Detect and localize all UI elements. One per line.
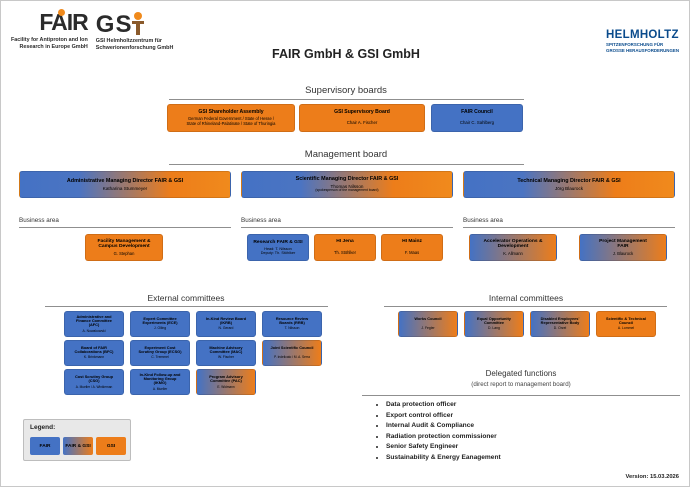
external-box-rrb[interactable]: Resource Review Boards (RRB) T. Nilsson [262, 311, 322, 337]
internal-box-scientific-technical-council[interactable]: Scientific & Technical Council A. Lommel [596, 311, 656, 337]
supervisory-box-gsi-shareholder-assembly[interactable]: GSI Shareholder Assembly German Federal … [167, 104, 295, 132]
external-committees-heading: External committees [41, 293, 331, 303]
delegated-functions-list: Data protection officer Export control o… [374, 400, 690, 463]
box-title: Expert Committee Experiments (ECE) [142, 317, 177, 326]
external-box-joint-scientific-council[interactable]: Joint Scientific Council P. Indelicato /… [262, 340, 322, 366]
business-area-label-3: Business area [463, 217, 503, 224]
box-note: (spokesperson of the management board) [315, 189, 378, 193]
box-subtitle: A. Mueller [153, 388, 167, 392]
box-title: Experiment Cost Scrutiny Group (ECSG) [138, 346, 181, 355]
external-box-ece[interactable]: Expert Committee Experiments (ECE) J. Ol… [130, 311, 190, 337]
external-committees-divider [45, 306, 328, 307]
box-subtitle: J. Olling [154, 327, 166, 331]
helmholtz-subtitle: SPITZENFORSCHUNG FÜR GROSSE HERAUSFORDER… [606, 42, 679, 54]
internal-committees-heading: Internal committees [381, 293, 671, 303]
logo-group: FAIR Facility for Antiproton and Ion Res… [11, 11, 173, 52]
box-title: In-Kind Follow-up and Monitoring Group (… [140, 373, 181, 386]
legend: Legend: FAIR FAIR & GSI GSI [23, 419, 131, 461]
page-title: FAIR GmbH & GSI GmbH [1, 47, 690, 61]
legend-swatch-gsi: GSI [96, 437, 126, 455]
list-item: Sustainability & Energy Eanagement [386, 453, 690, 464]
list-item: Radiation protection commissioner [386, 432, 690, 443]
management-board-heading: Management board [161, 149, 531, 160]
box-subtitle: D. Lang [488, 327, 500, 331]
box-subtitle: Katharina Stummeyer [103, 186, 147, 191]
external-box-pac[interactable]: Program Advisory Committee (PAC) E. Widm… [196, 369, 256, 395]
box-title: Board of FAIR Collaborations (BFC) [75, 346, 114, 355]
internal-box-disabled-employees-representative-body[interactable]: Disabled Employees' Representative Body … [530, 311, 590, 337]
business-box-accelerator-operations[interactable]: Accelerator Operations & Development K. … [469, 234, 557, 261]
business-box-facility-management[interactable]: Facility Management & Campus Development… [85, 234, 163, 261]
business-area-divider-1 [19, 227, 231, 228]
box-subtitle: A. Nowakowski [83, 330, 106, 334]
box-title: Accelerator Operations & Development [484, 239, 543, 250]
delegated-functions-title: Delegated functions [356, 369, 686, 378]
legend-label: GSI [107, 444, 115, 449]
business-box-hi-jena[interactable]: HI Jena Th. Stöhlker [314, 234, 376, 261]
box-subtitle: Jörg Blaurock [555, 186, 583, 191]
box-subtitle: A. Lommel [618, 327, 634, 331]
external-box-csg[interactable]: Cost Scrutiny Group (CSG) A. Mueller / A… [64, 369, 124, 395]
box-title: GSI Supervisory Board [334, 110, 390, 116]
legend-label: FAIR [40, 444, 51, 449]
supervisory-divider [169, 99, 524, 100]
box-title: Scientific & Technical Council [606, 317, 646, 326]
gsi-logo-letter-s: S [115, 15, 130, 35]
box-title: Joint Scientific Council [270, 346, 313, 350]
box-subtitle: Head: T. Nilsson Deputy: Th. Stöhlker [261, 247, 296, 256]
box-subtitle: Chair C. Sahlberg [460, 121, 494, 126]
box-subtitle: P. Indelicato / M. A. Serra [274, 356, 310, 360]
delegated-functions-divider [362, 395, 680, 396]
box-subtitle: W. Fischer [218, 356, 234, 360]
delegated-functions-subtitle: (direct report to management board) [356, 381, 686, 388]
business-box-hi-mainz[interactable]: HI Mainz F. Maas [381, 234, 443, 261]
list-item: Export control officer [386, 411, 690, 422]
internal-committees-divider [384, 306, 667, 307]
box-subtitle: A. Mueller / A. Winkleman [76, 386, 113, 390]
external-box-ikmg[interactable]: In-Kind Follow-up and Monitoring Group (… [130, 369, 190, 395]
box-subtitle: German Federal Government / State of Hes… [187, 117, 276, 126]
business-area-divider-2 [241, 227, 453, 228]
legend-swatch-fair: FAIR [30, 437, 60, 455]
box-title: Administrative and Finance Committee (AF… [76, 315, 112, 328]
box-title: Disabled Employees' Representative Body [541, 317, 580, 326]
delegated-functions-section: Delegated functions (direct report to ma… [356, 369, 686, 457]
fair-logo-wordmark: FAIR [39, 11, 87, 33]
box-title: Research FAIR & GSI [253, 240, 302, 245]
legend-title: Legend: [30, 424, 55, 431]
external-box-ecsg[interactable]: Experiment Cost Scrutiny Group (ECSG) C.… [130, 340, 190, 366]
gsi-logo-letter-g: G [96, 15, 114, 35]
box-subtitle: K. Allmann [503, 252, 523, 257]
box-subtitle: K. Brinkmann [84, 356, 104, 360]
box-title: Resource Review Boards (RRB) [276, 317, 308, 326]
legend-swatch-fair-gsi: FAIR & GSI [63, 437, 93, 455]
box-subtitle: J. Fegler [421, 327, 434, 331]
external-box-bfc[interactable]: Board of FAIR Collaborations (BFC) K. Br… [64, 340, 124, 366]
version-label: Version: 15.03.2026 [626, 474, 680, 480]
business-area-divider-3 [463, 227, 675, 228]
box-title: HI Mainz [402, 239, 422, 244]
helmholtz-wordmark: HELMHOLTZ [606, 29, 679, 41]
external-box-mac[interactable]: Machine Advisory Committee (MAC) W. Fisc… [196, 340, 256, 366]
management-divider [169, 164, 524, 165]
box-title: Facility Management & Campus Development [98, 239, 151, 250]
management-box-scientific-managing-director[interactable]: Scientific Managing Director FAIR & GSI … [241, 171, 453, 198]
legend-label: FAIR & GSI [65, 444, 90, 449]
box-title: FAIR Council [461, 110, 493, 116]
box-title: Project Management FAIR [599, 239, 647, 250]
box-title: Works Council [414, 317, 441, 321]
list-item: Data protection officer [386, 400, 690, 411]
box-title: In-Kind Review Board (IKRB) [206, 317, 246, 326]
box-title: Scientific Managing Director FAIR & GSI [296, 176, 399, 182]
box-subtitle: N. Gerard [219, 327, 234, 331]
list-item: Internal Audit & Compliance [386, 421, 690, 432]
supervisory-box-gsi-supervisory-board[interactable]: GSI Supervisory Board Chair A. Fischer [299, 104, 425, 132]
business-area-label-2: Business area [241, 217, 281, 224]
internal-box-equal-opportunity-committee[interactable]: Equal Opportunity Committee D. Lang [464, 311, 524, 337]
org-chart-page: FAIR Facility for Antiproton and Ion Res… [0, 0, 690, 487]
supervisory-boards-heading: Supervisory boards [161, 85, 531, 96]
box-subtitle: E. Widmann [217, 386, 234, 390]
box-title: Machine Advisory Committee (MAC) [209, 346, 242, 355]
list-item: Senior Safety Engineer [386, 442, 690, 453]
box-subtitle: C. Tremmel [151, 356, 169, 360]
business-box-project-management-fair[interactable]: Project Management FAIR J. Blaurock [579, 234, 667, 261]
page-header: FAIR Facility for Antiproton and Ion Res… [1, 1, 690, 73]
box-subtitle: F. Maas [405, 251, 419, 256]
internal-box-works-council[interactable]: Works Council J. Fegler [398, 311, 458, 337]
box-title: Cost Scrutiny Group (CSG) [75, 375, 113, 384]
box-title: Technical Managing Director FAIR & GSI [517, 178, 620, 184]
gsi-logo-wordmark: G S [96, 13, 174, 35]
box-title: Program Advisory Committee (PAC) [209, 375, 243, 384]
external-box-afc[interactable]: Administrative and Finance Committee (AF… [64, 311, 124, 337]
box-subtitle: J. Blaurock [613, 252, 633, 257]
management-box-administrative-managing-director[interactable]: Administrative Managing Director FAIR & … [19, 171, 231, 198]
fair-logo: FAIR Facility for Antiproton and Ion Res… [11, 11, 88, 51]
box-title: HI Jena [336, 239, 353, 244]
box-subtitle: Chair A. Fischer [347, 121, 378, 126]
gsi-logo-letter-i-icon [132, 15, 144, 35]
business-box-research-fair-gsi[interactable]: Research FAIR & GSI Head: T. Nilsson Dep… [247, 234, 309, 261]
box-subtitle: T. Nilsson [285, 327, 300, 331]
box-subtitle: D. Orzel [554, 327, 566, 331]
box-title: GSI Shareholder Assembly [198, 110, 263, 116]
box-title: Administrative Managing Director FAIR & … [67, 178, 183, 184]
helmholtz-logo: HELMHOLTZ SPITZENFORSCHUNG FÜR GROSSE HE… [606, 29, 679, 54]
external-box-ikrb[interactable]: In-Kind Review Board (IKRB) N. Gerard [196, 311, 256, 337]
supervisory-box-fair-council[interactable]: FAIR Council Chair C. Sahlberg [431, 104, 523, 132]
management-box-technical-managing-director[interactable]: Technical Managing Director FAIR & GSI J… [463, 171, 675, 198]
box-subtitle: G. Stephan [114, 252, 135, 257]
box-title: Equal Opportunity Committee [477, 317, 511, 326]
box-subtitle: Th. Stöhlker [334, 251, 356, 256]
business-area-label-1: Business area [19, 217, 59, 224]
